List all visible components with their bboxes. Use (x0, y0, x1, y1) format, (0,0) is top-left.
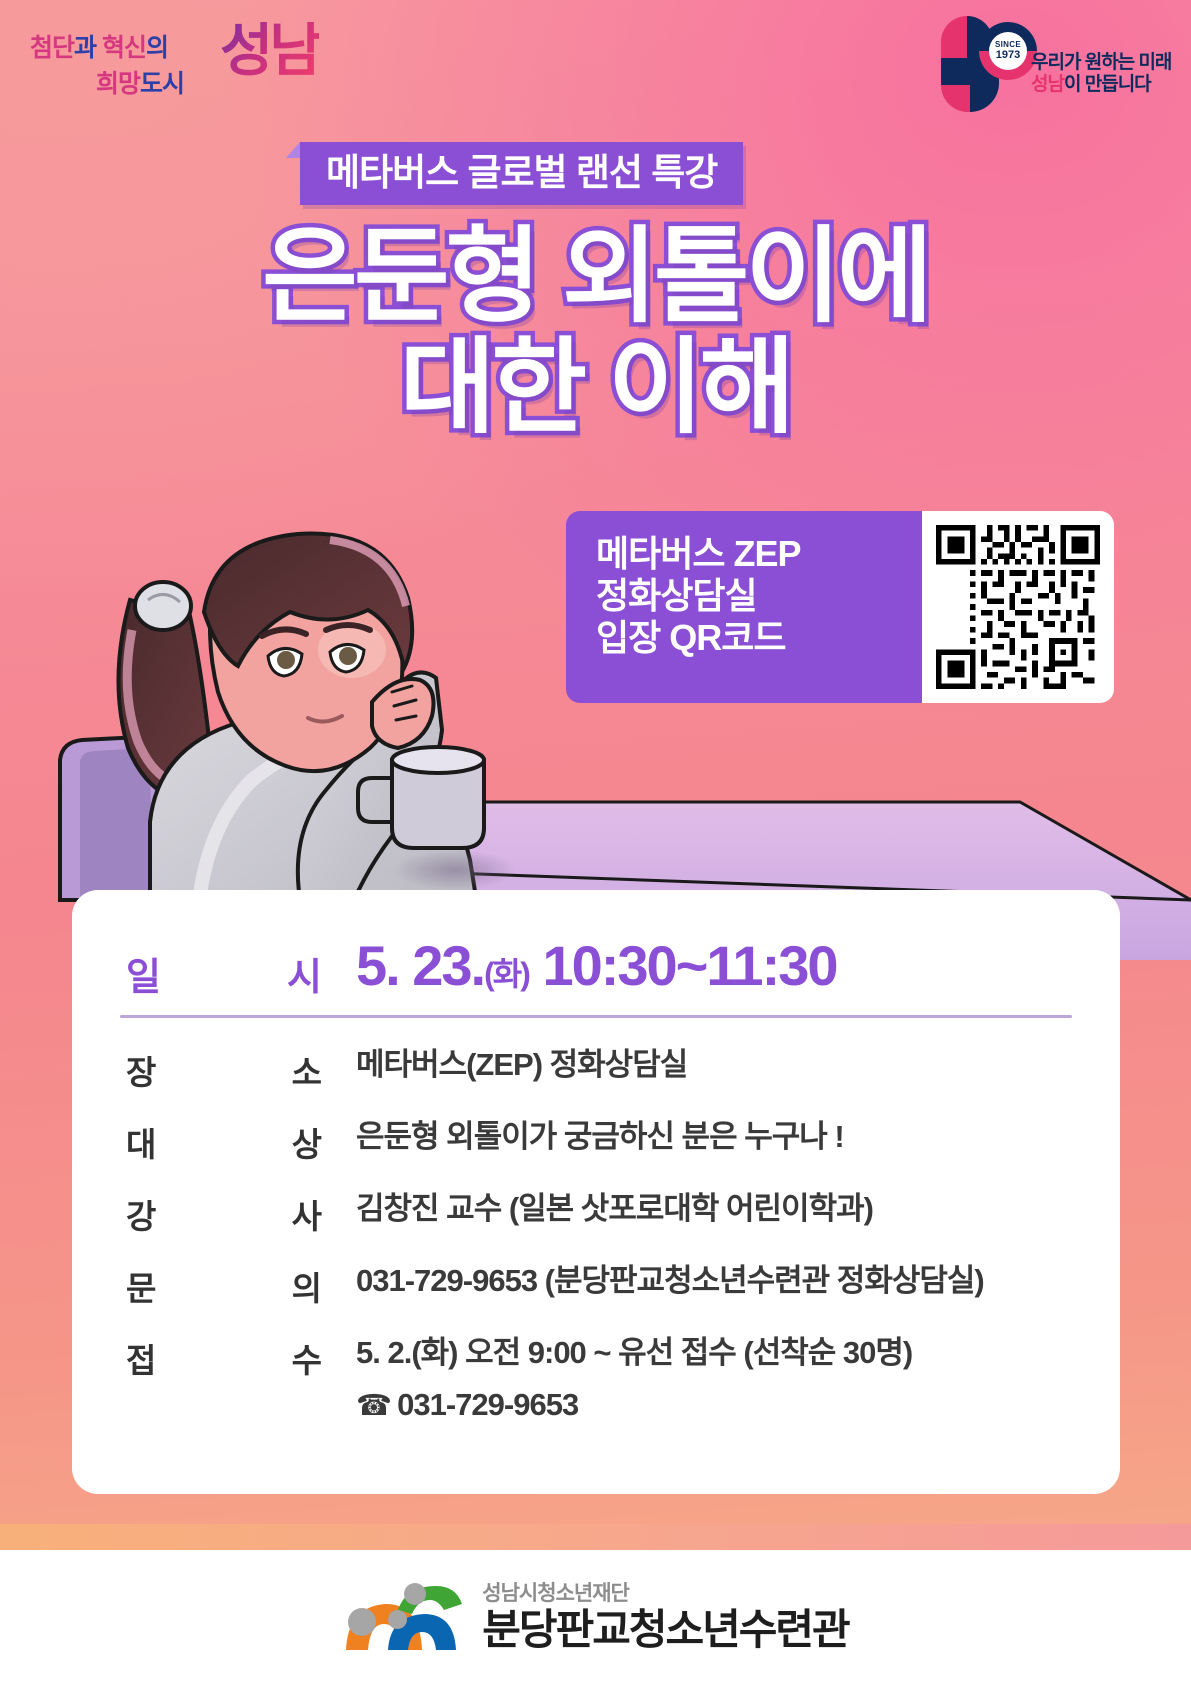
info-value-audience: 은둔형 외톨이가 궁금하신 분은 누구나 ! (356, 1116, 844, 1158)
city-logo-line1-a: 첨단 (30, 34, 74, 62)
info-label-registration-b: 수 (292, 1334, 322, 1382)
info-label-audience-a: 대 (126, 1118, 156, 1166)
slogan-line1-b: 미래 (1138, 52, 1171, 73)
title-line-1: 은둔형 외톨이에 (0, 222, 1191, 333)
footer-org-small: 성남시청소년재단 (482, 1583, 848, 1604)
info-label-registration-a: 접 (126, 1334, 156, 1382)
footer: 성남시청소년재단 분당판교청소년수련관 (0, 1550, 1191, 1684)
info-label-registration: 접 수 (116, 1332, 356, 1382)
info-value-registration-line1: 5. 2.(화) 오전 9:00 ~ 유선 접수 (선착순 30명) (356, 1335, 912, 1370)
info-label-lecturer-a: 강 (126, 1190, 156, 1238)
slogan-line2-a: 성남 (1031, 74, 1064, 95)
city-logo-line2-a: 희망 (96, 70, 140, 98)
title-line-2: 대한 이해 (0, 333, 1191, 444)
info-label-lecturer: 강 사 (116, 1188, 356, 1238)
city-logo-line1-c: 혁신 (102, 34, 146, 62)
qr-label-line-1: 메타버스 ZEP (596, 533, 896, 575)
since-year: 1973 (996, 50, 1020, 61)
datetime-value: 5. 23.(화) 10:30~11:30 (356, 938, 837, 994)
info-value-place: 메타버스(ZEP) 정화상담실 (356, 1044, 687, 1086)
slogan-line1-a: 우리가 원하는 (1031, 52, 1138, 73)
card-divider (120, 1015, 1072, 1018)
poster-root: 첨단과 혁신의 희망도시 성남 SINCE 1973 우리가 원하는 미래 성남… (0, 0, 1191, 1684)
anniversary-mark-icon: SINCE 1973 (935, 12, 1035, 112)
info-value-lecturer: 김창진 교수 (일본 삿포로대학 어린이학과) (356, 1188, 873, 1230)
info-label-audience-b: 상 (292, 1118, 322, 1166)
datetime-label: 일 시 (116, 938, 356, 1001)
city-logo-line2: 희망도시 (96, 64, 184, 100)
info-value-registration: 5. 2.(화) 오전 9:00 ~ 유선 접수 (선착순 30명) ☎031-… (356, 1332, 912, 1426)
registration-phone: 031-729-9653 (397, 1387, 578, 1422)
info-label-place-a: 장 (126, 1046, 156, 1094)
info-label-lecturer-b: 사 (292, 1190, 322, 1238)
datetime-label-b: 시 (287, 946, 322, 1001)
qr-label: 메타버스 ZEP 정화상담실 입장 QR코드 (566, 511, 922, 703)
datetime-date: 5. 23. (356, 934, 484, 997)
info-rows: 장 소 메타버스(ZEP) 정화상담실 대 상 은둔형 외톨이가 궁금하신 분은… (116, 1044, 1076, 1426)
city-logo-line1-b: 과 (74, 34, 96, 62)
info-label-place: 장 소 (116, 1044, 356, 1094)
city-logo-line2-b: 도시 (140, 70, 184, 98)
datetime-weekday: (화) (484, 956, 529, 992)
info-row-lecturer: 강 사 김창진 교수 (일본 삿포로대학 어린이학과) (116, 1188, 1076, 1238)
anniversary-slogan: 우리가 원하는 미래 성남이 만듭니다 (1031, 52, 1171, 97)
info-label-place-b: 소 (292, 1046, 322, 1094)
info-card: 일 시 5. 23.(화) 10:30~11:30 장 소 메타버스(ZEP) … (72, 890, 1120, 1494)
footer-org-big: 분당판교청소년수련관 (482, 1609, 848, 1651)
qr-label-line-3: 입장 QR코드 (596, 617, 896, 659)
info-row-inquiry: 문 의 031-729-9653 (분당판교청소년수련관 정화상담실) (116, 1260, 1076, 1310)
footer-org-text: 성남시청소년재단 분당판교청소년수련관 (482, 1583, 848, 1651)
info-label-inquiry: 문 의 (116, 1260, 356, 1310)
info-row-place: 장 소 메타버스(ZEP) 정화상담실 (116, 1044, 1076, 1094)
seongnam-city-logo: 첨단과 혁신의 희망도시 성남 (24, 18, 324, 108)
telephone-icon: ☎ (356, 1390, 391, 1422)
city-logo-line1-d: 의 (146, 34, 168, 62)
subtitle-ribbon: 메타버스 글로벌 랜선 특강 (300, 142, 743, 205)
footer-accent-bar (0, 1524, 1191, 1550)
city-logo-name: 성남 (220, 22, 319, 80)
page-title: 은둔형 외톨이에 대한 이해 (0, 222, 1191, 445)
subtitle-text: 메타버스 글로벌 랜선 특강 (326, 152, 717, 193)
slogan-line2-b: 이 만듭니다 (1064, 74, 1151, 95)
info-label-audience: 대 상 (116, 1116, 356, 1166)
datetime-time: 10:30~11:30 (542, 934, 836, 997)
info-row-audience: 대 상 은둔형 외톨이가 궁금하신 분은 누구나 ! (116, 1116, 1076, 1166)
info-label-inquiry-b: 의 (292, 1262, 322, 1310)
qr-label-line-2: 정화상담실 (596, 575, 896, 617)
datetime-row: 일 시 5. 23.(화) 10:30~11:30 (116, 938, 1076, 1001)
info-label-inquiry-a: 문 (126, 1262, 156, 1310)
info-row-registration: 접 수 5. 2.(화) 오전 9:00 ~ 유선 접수 (선착순 30명) ☎… (116, 1332, 1076, 1426)
foundation-logo-icon (342, 1580, 464, 1654)
qr-code-icon[interactable] (922, 511, 1114, 703)
info-value-registration-line2: ☎031-729-9653 (356, 1384, 912, 1426)
city-logo-line1: 첨단과 혁신의 (30, 28, 168, 64)
qr-block[interactable]: 메타버스 ZEP 정화상담실 입장 QR코드 (566, 511, 1114, 703)
datetime-label-a: 일 (126, 946, 161, 1001)
anniversary-logo: SINCE 1973 우리가 원하는 미래 성남이 만듭니다 (935, 10, 1175, 120)
info-value-inquiry: 031-729-9653 (분당판교청소년수련관 정화상담실) (356, 1260, 984, 1302)
